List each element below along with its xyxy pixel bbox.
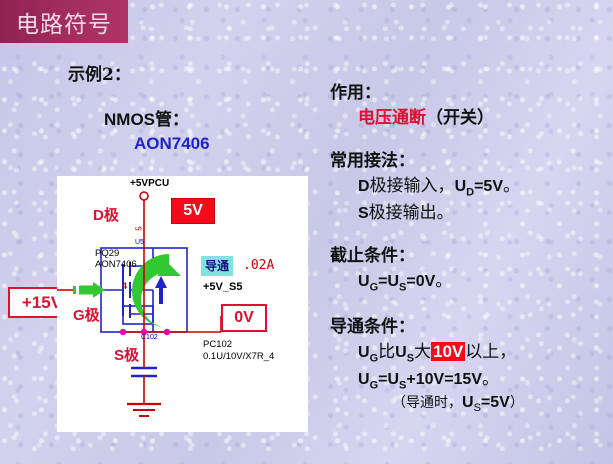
voltage-box-5v-value: 5V — [183, 202, 203, 220]
cutoff-us: U — [387, 273, 399, 290]
cond-da: 大 — [414, 342, 431, 362]
cap-designator-label: C102 — [141, 334, 158, 341]
section-title-cutoff: 截止条件： — [330, 241, 610, 266]
cond2-val: +10V=15V — [406, 371, 482, 388]
voltage-box-0v: 0V — [221, 304, 267, 332]
designator-text: PQ29 — [95, 248, 119, 259]
cond-us: U — [395, 344, 407, 361]
wiring-s-text: 极接输出。 — [369, 203, 454, 223]
cond2-period: 。 — [482, 369, 499, 389]
wiring-line-2: S极接输出。 — [358, 198, 610, 223]
cutoff-val: =0V — [406, 273, 435, 290]
junction-dot — [120, 329, 126, 335]
designator-label: PQ29 AON7406 — [95, 248, 137, 270]
section-title-function: 作用： — [330, 78, 610, 103]
net-port-circle-icon — [140, 192, 148, 200]
wiring-u-sub: D — [466, 186, 474, 198]
explanation-panel: 作用： 电压通断（开关） 常用接法： D极接输入，UD=5V。 S极接输出。 截… — [330, 78, 610, 413]
conduction-line-1: UG比US大10V以上， — [358, 337, 610, 364]
conduct-badge: 导通 — [201, 256, 233, 276]
cap-label: PC102 0.1U/10V/X7R_4 — [203, 339, 274, 363]
section-title-wiring: 常用接法： — [330, 146, 610, 171]
page-title: 电路符号 — [16, 5, 112, 39]
gate-input-marker — [73, 286, 76, 294]
title-banner: 电路符号 — [0, 0, 128, 43]
cond-highlight-10v: 10V — [431, 342, 465, 361]
section-body-function: 电压通断（开关） — [358, 103, 610, 128]
device-type-label: NMOS管： — [104, 105, 189, 130]
net-label-source: +5V_S5 — [203, 281, 242, 293]
designator-part: AON7406 — [95, 259, 137, 270]
cond3-us-sub: S — [474, 401, 481, 413]
cutoff-ug: U — [358, 273, 370, 290]
cond-bi: 比 — [378, 342, 395, 362]
pin-number-top: 5 — [135, 226, 144, 230]
schematic-panel: +5VPCU D极 5V PQ29 AON7406 U5 5 4 G极 S极 导… — [57, 176, 308, 432]
cond3-close: ） — [510, 395, 524, 411]
section-title-conduction: 导通条件： — [330, 312, 610, 337]
wiring-d-text: 极接输入， — [370, 176, 455, 196]
cond-above: 以上， — [465, 342, 516, 362]
cond3-open: （导通时， — [392, 395, 462, 411]
current-direction-arrow-head-icon — [155, 276, 167, 288]
wiring-u-val: =5V — [474, 178, 503, 195]
pin-number-left: 4 — [122, 281, 127, 291]
cond-ug-sub: G — [370, 352, 379, 364]
cap-value-text: 0.1U/10V/X7R_4 — [203, 351, 274, 362]
conduction-curved-arrow-icon — [132, 254, 169, 328]
cond2-us: U — [387, 371, 399, 388]
cutoff-ug-sub: G — [370, 282, 379, 294]
g-pole-label: G极 — [73, 304, 100, 325]
wiring-line-1: D极接输入，UD=5V。 — [358, 171, 610, 198]
net-label-top: +5VPCU — [130, 178, 169, 189]
wiring-u: U — [455, 178, 467, 195]
wiring-d: D — [358, 178, 370, 195]
cond-ug: U — [358, 344, 370, 361]
wiring-period-1: 。 — [503, 176, 520, 196]
junction-dot — [164, 329, 170, 335]
u-ref-label: U5 — [135, 239, 144, 246]
function-highlight: 电压通断 — [358, 108, 426, 128]
example-label: 示例2： — [68, 60, 131, 85]
conduction-line-3: （导通时，US=5V） — [392, 392, 610, 414]
cond-us-sub: S — [407, 352, 414, 364]
cond2-ug-sub: G — [370, 380, 379, 392]
part-number-label: AON7406 — [134, 134, 210, 154]
cutoff-line: UG=US=0V。 — [358, 266, 610, 293]
conduct-badge-text: 导通 — [205, 259, 229, 273]
cond3-us: U — [462, 394, 474, 411]
current-label: .02A — [243, 258, 274, 273]
conduction-line-2: UG=US+10V=15V。 — [358, 364, 610, 391]
cond2-ug: U — [358, 371, 370, 388]
cutoff-period: 。 — [435, 271, 452, 291]
s-pole-label: S极 — [114, 344, 139, 365]
cap-ref-text: PC102 — [203, 339, 232, 350]
d-pole-label: D极 — [93, 204, 119, 225]
cond3-val: =5V — [481, 394, 510, 411]
voltage-box-5v: 5V — [171, 198, 215, 224]
voltage-box-0v-value: 0V — [234, 309, 254, 327]
wiring-s: S — [358, 205, 369, 222]
gate-green-arrow-head-icon — [93, 282, 105, 298]
function-rest: （开关） — [426, 108, 494, 128]
